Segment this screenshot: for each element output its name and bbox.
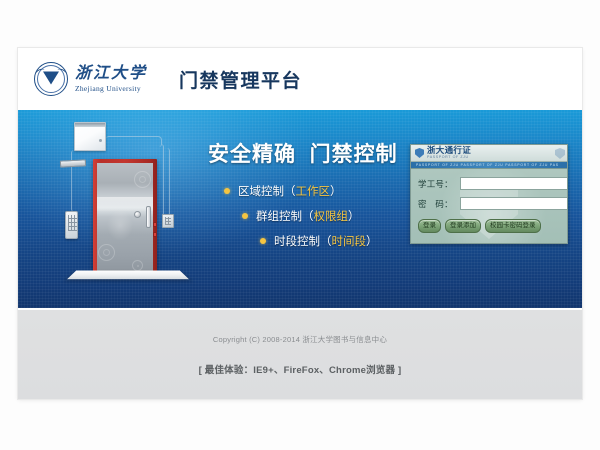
door-hinge — [153, 222, 157, 227]
page-card: 浙江大学 Zhejiang University 门禁管理平台 — [18, 48, 582, 399]
floor-plate — [67, 270, 189, 279]
password-input[interactable] — [460, 197, 568, 210]
password-row: 密 码： — [418, 197, 560, 210]
door-knob — [134, 211, 141, 218]
zju-emblem-icon — [34, 62, 68, 96]
feature-highlight: 工作区 — [296, 183, 331, 199]
door-closer — [60, 159, 86, 167]
door-hinge — [153, 232, 157, 237]
login-title-cn: 浙大通行证 — [427, 146, 471, 155]
feature-label: 时段控制（ — [274, 233, 332, 249]
feature-tail: ） — [330, 183, 342, 199]
login-panel: 浙大通行证 PASSPORT OF ZJU PASSPORT OF ZJU PA… — [410, 144, 568, 244]
feature-tail: ） — [366, 233, 378, 249]
access-control-illustration — [52, 118, 197, 298]
feature-highlight: 时间段 — [332, 233, 367, 249]
logo-text: 浙江大学 Zhejiang University — [75, 66, 147, 93]
keypad-reader — [65, 211, 78, 239]
feature-item-group: 群组控制（权限组） — [242, 208, 433, 224]
login-panel-header: 浙大通行证 PASSPORT OF ZJU — [411, 145, 567, 162]
feature-label: 区域控制（ — [238, 183, 296, 199]
banner-slogan: 安全精确 门禁控制 — [208, 138, 433, 168]
bullet-dot-icon — [260, 238, 266, 244]
login-add-button[interactable]: 登录添加 — [445, 219, 481, 233]
username-input[interactable] — [460, 177, 568, 190]
login-form: 学工号： 密 码： 登录 登录添加 校园卡密码登录 — [411, 169, 567, 244]
feature-item-area: 区域控制（工作区） — [224, 183, 433, 199]
cable-right-inner — [156, 148, 170, 216]
campus-card-login-button[interactable]: 校园卡密码登录 — [485, 219, 541, 233]
feature-tail: ） — [348, 208, 360, 224]
door-handle — [146, 206, 151, 228]
feature-label: 群组控制（ — [256, 208, 314, 224]
site-header: 浙江大学 Zhejiang University 门禁管理平台 — [18, 48, 582, 110]
banner-copy: 安全精确 门禁控制 区域控制（工作区） 群组控制（权限组） 时段控制（时间段） — [208, 138, 433, 258]
site-footer: Copyright (C) 2008-2014 浙江大学图书与信息中心 [ 最佳… — [18, 308, 582, 399]
strip-text: PASSPORT OF ZJU PASSPORT OF ZJU PASSPORT… — [411, 163, 559, 167]
login-title-en: PASSPORT OF ZJU — [427, 156, 471, 160]
feature-highlight: 权限组 — [314, 208, 349, 224]
bullet-dot-icon — [224, 188, 230, 194]
logo-name-cn: 浙江大学 — [75, 66, 147, 82]
browser-recommendation: [ 最佳体验：IE9+、FireFox、Chrome浏览器 ] — [199, 362, 402, 376]
card-reader — [162, 214, 174, 228]
university-logo[interactable]: 浙江大学 Zhejiang University — [34, 62, 147, 96]
logo-name-en: Zhejiang University — [75, 85, 147, 93]
username-row: 学工号： — [418, 177, 560, 190]
username-label: 学工号： — [418, 178, 460, 190]
copyright-text: Copyright (C) 2008-2014 浙江大学图书与信息中心 — [213, 334, 387, 345]
feature-list: 区域控制（工作区） 群组控制（权限组） 时段控制（时间段） — [208, 183, 433, 249]
login-button[interactable]: 登录 — [418, 219, 441, 233]
login-button-row: 登录 登录添加 校园卡密码登录 — [418, 219, 560, 233]
page-title: 门禁管理平台 — [179, 66, 302, 93]
hero-banner: 安全精确 门禁控制 区域控制（工作区） 群组控制（权限组） 时段控制（时间段） — [18, 110, 582, 308]
password-label: 密 码： — [418, 198, 460, 210]
login-panel-strip: PASSPORT OF ZJU PASSPORT OF ZJU PASSPORT… — [411, 162, 567, 169]
shield-watermark-icon — [555, 148, 565, 159]
feature-item-time: 时段控制（时间段） — [260, 233, 433, 249]
bullet-dot-icon — [242, 213, 248, 219]
shield-icon — [415, 148, 424, 158]
access-controller-box — [74, 122, 106, 151]
